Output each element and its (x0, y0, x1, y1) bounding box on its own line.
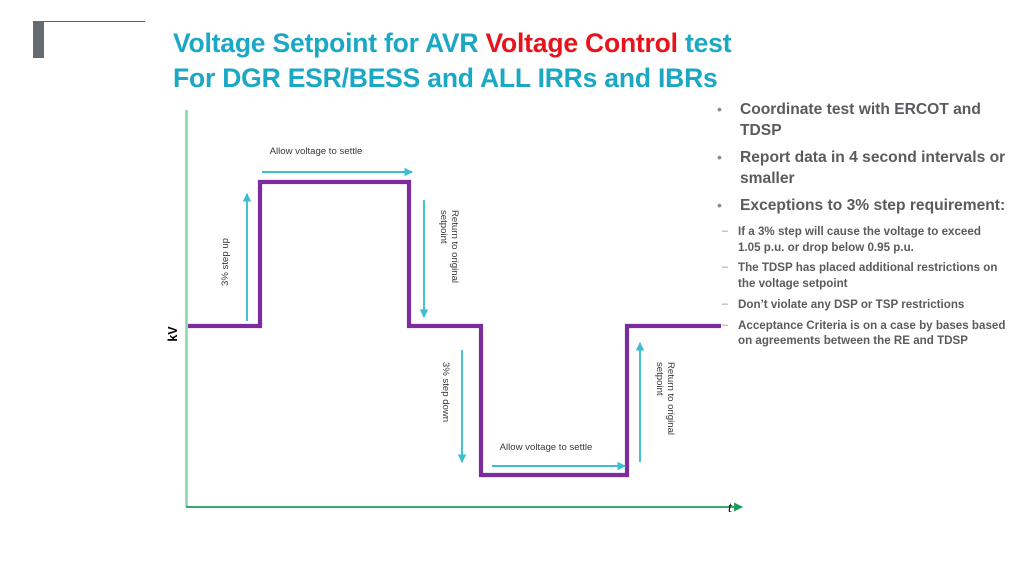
annotation-label-settle-high: Allow voltage to settle (270, 146, 363, 157)
chart-y-axis-label: kV (166, 326, 180, 342)
chart-x-axis-label: t (728, 500, 733, 516)
annotation-label-return-1: Return to original setpoint (438, 210, 460, 286)
annotation-label-return-1-line1: Return to original (449, 210, 460, 283)
annotation-label-step-up: 3% step up (220, 238, 231, 286)
annotation-label-return-2-line2: setpoint (654, 362, 665, 396)
annotation-label-return-2: Return to original setpoint (654, 362, 676, 438)
annotation-label-step-down: 3% step down (440, 362, 451, 422)
annotation-label-settle-low: Allow voltage to settle (500, 442, 593, 453)
annotation-label-return-2-line1: Return to original (665, 362, 676, 435)
annotation-label-return-1-line2: setpoint (438, 210, 449, 244)
voltage-setpoint-chart: kV t 3% step up Allow voltage to settle … (0, 0, 1024, 576)
